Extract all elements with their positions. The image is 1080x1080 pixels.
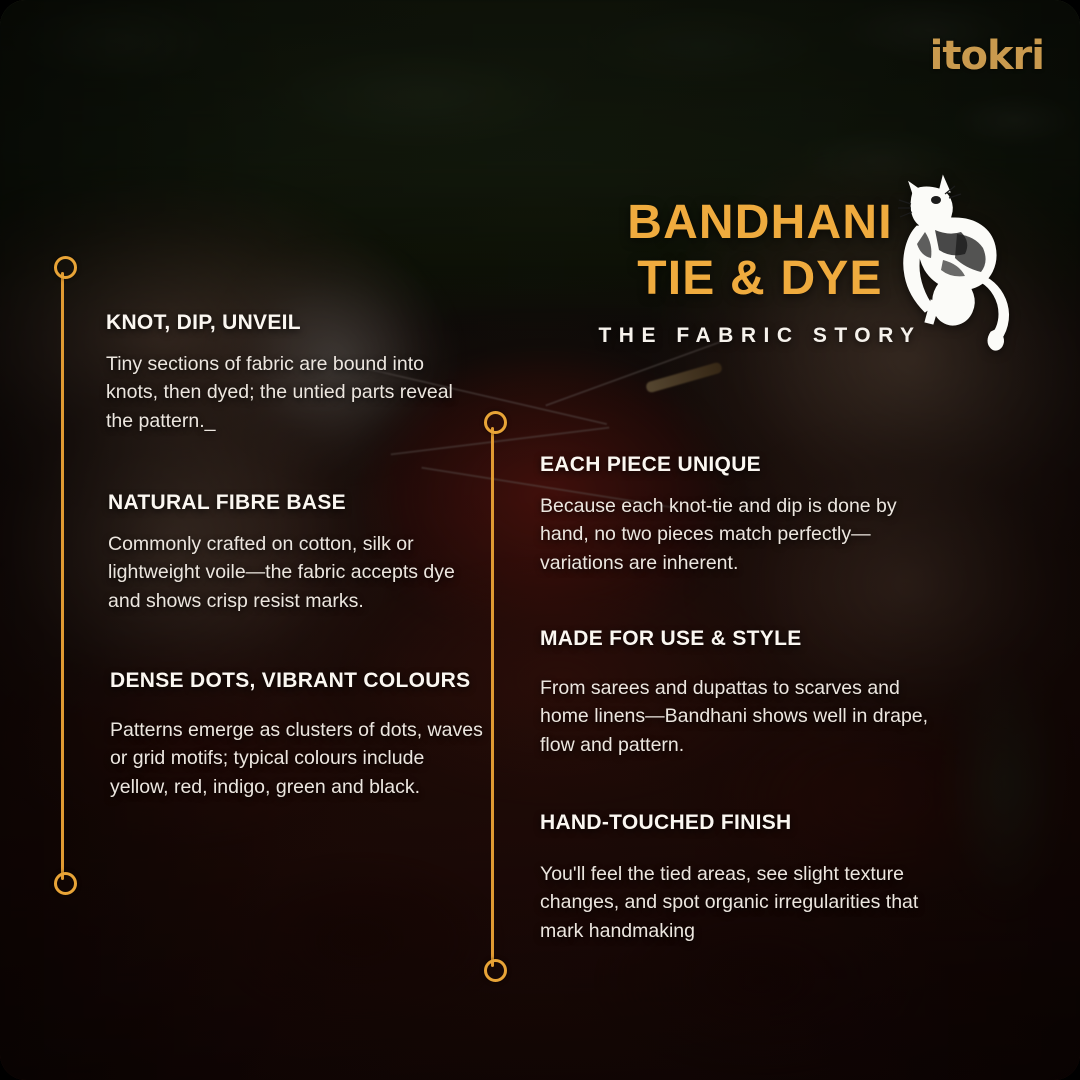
info-block-heading: NATURAL FIBRE BASE [108, 490, 478, 516]
info-block-body: Because each knot-tie and dip is done by… [540, 492, 940, 579]
info-block-knot-dip-unveil: KNOT, DIP, UNVEIL Tiny sections of fabri… [106, 310, 476, 436]
info-block-natural-fibre-base: NATURAL FIBRE BASE Commonly crafted on c… [108, 490, 478, 616]
timeline-node-right-bottom [484, 959, 507, 982]
info-block-body: Commonly crafted on cotton, silk or ligh… [108, 530, 478, 617]
info-block-heading: EACH PIECE UNIQUE [540, 452, 940, 478]
sketch-cat-icon [895, 172, 1015, 352]
info-block-body: Tiny sections of fabric are bound into k… [106, 350, 476, 437]
info-block-heading: KNOT, DIP, UNVEIL [106, 310, 476, 336]
timeline-node-left-top [54, 256, 77, 279]
info-block-each-piece-unique: EACH PIECE UNIQUE Because each knot-tie … [540, 452, 940, 578]
info-block-body: You'll feel the tied areas, see slight t… [540, 860, 945, 947]
info-block-dense-dots-vibrant-colours: DENSE DOTS, VIBRANT COLOURS Patterns eme… [110, 668, 485, 802]
timeline-rail-left [61, 272, 64, 880]
info-block-made-for-use-and-style: MADE FOR USE & STYLE From sarees and dup… [540, 626, 940, 760]
info-block-hand-touched-finish: HAND-TOUCHED FINISH You'll feel the tied… [540, 810, 945, 946]
info-block-body: From sarees and dupattas to scarves and … [540, 674, 940, 761]
info-block-heading: DENSE DOTS, VIBRANT COLOURS [110, 668, 485, 694]
info-block-heading: HAND-TOUCHED FINISH [540, 810, 945, 836]
timeline-rail-right [491, 427, 494, 967]
info-block-heading: MADE FOR USE & STYLE [540, 626, 940, 652]
timeline-node-left-bottom [54, 872, 77, 895]
info-block-body: Patterns emerge as clusters of dots, wav… [110, 716, 485, 803]
timeline-node-right-top [484, 411, 507, 434]
infographic-poster: itokri BANDHANI TIE & DYE THE FABRIC STO… [0, 0, 1080, 1080]
brand-logo[interactable]: itokri [930, 36, 1044, 76]
